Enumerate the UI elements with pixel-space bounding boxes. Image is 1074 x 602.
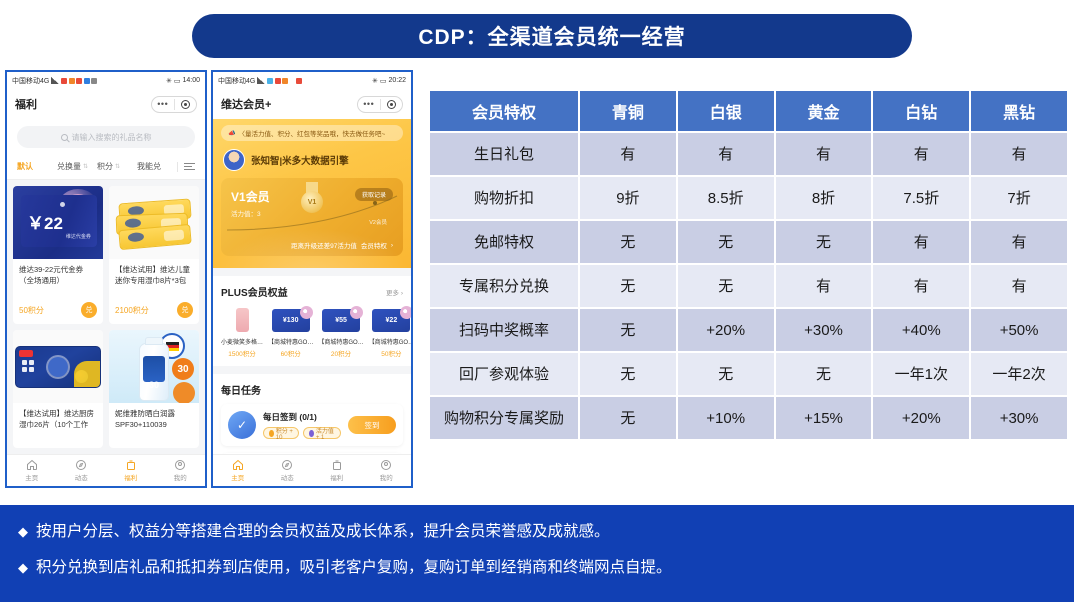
daily-tasks-section: 每日任务 ✓ 每日签到 (0/1) 积分 + 10 活力值 + 1 (213, 374, 411, 454)
user-row[interactable]: 张知智|米多大数据引擎 (223, 149, 401, 171)
plus-item-image: ¥130 (271, 306, 311, 334)
column-header-gold: 黄金 (776, 91, 872, 131)
right-phone-content: 📣 〈量活力值、积分、红包等奖品哦，快去做任务吧~ 张知智|米多大数据引擎 V1… (213, 119, 411, 486)
row-label: 专属积分兑换 (430, 265, 578, 307)
plus-items-grid: 小麦微笑多格… 1500积分 ¥130 【商城特惠GO… 60积分 (221, 306, 403, 358)
sort-arrow-icon: ⇅ (83, 163, 88, 170)
plus-item[interactable]: ¥130 【商城特惠GO… 60积分 (268, 306, 313, 358)
goods-image-wipes (109, 186, 199, 259)
goods-title: 妮维雅防晒白润露SPF30+110039 (115, 408, 193, 430)
goods-image-sunscreen: 30 30 (109, 330, 199, 403)
app-icon-red (275, 78, 281, 84)
coupon-subtitle: 维达代金券 (66, 233, 91, 240)
cell: 有 (971, 221, 1067, 263)
app-icon-red2 (76, 78, 82, 84)
task-item[interactable]: ✓ 每日签到 (0/1) 积分 + 10 活力值 + 1 (221, 404, 403, 446)
close-target-icon[interactable] (175, 100, 197, 109)
phone-screenshots: 中国移动4G ✳ ▭ 14:00 (5, 70, 413, 488)
task-reward-vitality: 活力值 + 1 (303, 427, 341, 439)
nav-title-left: 福利 (15, 96, 37, 112)
membership-privileges-table: 会员特权 青铜 白银 黄金 白钻 黑钻 生日礼包 有 有 有 有 有 (428, 89, 1069, 441)
cell: +50% (971, 309, 1067, 351)
plus-benefits-section: PLUS会员权益 更多 › 小麦微笑多格… 1500积分 (213, 276, 411, 366)
row-label: 免邮特权 (430, 221, 578, 263)
bullet-item: ◆ 积分兑换到店礼品和抵扣券到店使用，吸引老客户复购，复购订单到经销商和终端网点… (18, 558, 1056, 578)
plus-item-points: 60积分 (281, 348, 301, 358)
goods-card[interactable]: ￥22 维达代金券 维达39-22元代金券（全场通用） 50积分 兑 (13, 186, 103, 324)
row-label: 生日礼包 (430, 133, 578, 175)
app-icon-orange (69, 78, 75, 84)
avatar (223, 149, 245, 171)
plus-item-image (222, 306, 262, 334)
summary-band: ◆ 按用户分层、权益分等搭建合理的会员权益及成长体系，提升会员荣誉感及成就感。 … (0, 505, 1074, 602)
tab-label: 动态 (281, 472, 294, 482)
voucher-icon: ¥22 (372, 309, 410, 332)
phone-left: 中国移动4G ✳ ▭ 14:00 (5, 70, 207, 488)
chevron-right-icon: › (391, 242, 393, 249)
home-icon (232, 459, 244, 471)
sort-tab-default[interactable]: 默认 (17, 161, 57, 172)
task-title: 每日签到 (0/1) (263, 411, 341, 423)
tag-label: 积分 + 10 (276, 426, 293, 441)
bullet-text: 积分兑换到店礼品和抵扣券到店使用，吸引老客户复购，复购订单到经销商和终端网点自提… (36, 558, 672, 578)
table-row: 专属积分兑换 无 无 有 有 有 (430, 265, 1067, 307)
redeem-button[interactable]: 兑 (177, 302, 193, 318)
tab-mine[interactable]: 我的 (156, 459, 206, 482)
cell: 7.5折 (873, 177, 969, 219)
bottom-tab-bar-right: 主页 动态 福利 我的 (213, 454, 411, 486)
cell: 无 (580, 353, 676, 395)
spf-badge: 30 (172, 358, 194, 380)
table-row: 免邮特权 无 无 无 有 有 (430, 221, 1067, 263)
plus-item-points: 20积分 (331, 348, 351, 358)
cell: 一年2次 (971, 353, 1067, 395)
cell: 9折 (580, 177, 676, 219)
bottom-tab-bar-left: 主页 动态 福利 我的 (7, 454, 205, 486)
sort-arrow-icon: ⇅ (115, 163, 120, 170)
tab-home[interactable]: 主页 (7, 459, 57, 482)
signal-icon (51, 77, 59, 84)
tab-label: 动态 (75, 472, 88, 482)
status-bar-left: 中国移动4G ✳ ▭ 14:00 (7, 72, 205, 89)
next-level-label: V2会员 (369, 218, 387, 226)
search-area: 请输入搜索的礼品名称 (7, 119, 205, 154)
tag-label: 活力值 + 1 (316, 426, 335, 441)
chevron-right-icon: › (401, 290, 403, 297)
tab-label: 福利 (124, 472, 137, 482)
left-phone-content: 请输入搜索的礼品名称 默认 兑换量 ⇅ 积分 ⇅ (7, 119, 205, 486)
table-row: 购物积分专属奖励 无 +10% +15% +20% +30% (430, 397, 1067, 439)
nav-title-right: 维达会员+ (221, 96, 271, 112)
bluetooth-icon: ✳ (372, 77, 378, 85)
tab-home[interactable]: 主页 (213, 459, 263, 482)
cell: +20% (678, 309, 774, 351)
plus-item-name: 【商城特惠GO… (369, 337, 411, 346)
tab-feed[interactable]: 动态 (57, 459, 107, 482)
goods-title: 【维达试用】维达儿童迷你专用湿巾8片*3包试… (115, 264, 193, 286)
sort-tab-label: 兑换量 (57, 161, 81, 172)
cell: +40% (873, 309, 969, 351)
cell: +10% (678, 397, 774, 439)
sort-tab-points[interactable]: 积分 ⇅ (97, 161, 137, 172)
gift-icon (125, 459, 137, 471)
vip-level-card[interactable]: V1会员 活力值：3 获取记录 V1 V2会员 距离 (221, 178, 403, 256)
tab-label: 我的 (174, 472, 187, 482)
cell: 无 (776, 353, 872, 395)
goods-image-kitchen-wipes (13, 330, 103, 403)
column-header-black-diamond: 黑钻 (971, 91, 1067, 131)
cell: +30% (971, 397, 1067, 439)
app-icon-blue (267, 78, 273, 84)
clock-label: 14:00 (182, 77, 200, 84)
progress-text: 距离升级还差97活力值 (291, 240, 357, 250)
cell: 无 (580, 397, 676, 439)
compass-icon (75, 459, 87, 471)
coupon-amount: ￥22 (27, 209, 63, 234)
plus-item[interactable]: 小麦微笑多格… 1500积分 (221, 306, 263, 358)
battery-icon: ▭ (174, 77, 181, 85)
cell: 无 (580, 221, 676, 263)
close-target-icon[interactable] (381, 100, 403, 109)
cell: 有 (873, 133, 969, 175)
sort-tab-label: 我能兑 (137, 161, 161, 172)
cell: 无 (678, 265, 774, 307)
status-app-icons (267, 78, 302, 84)
more-link[interactable]: 更多 › (386, 287, 403, 297)
diamond-bullet-icon: ◆ (18, 522, 28, 542)
user-icon (174, 459, 186, 471)
column-header-bronze: 青铜 (580, 91, 676, 131)
section-title: 每日任务 (221, 382, 261, 397)
redeem-button[interactable]: 兑 (81, 302, 97, 318)
search-input[interactable]: 请输入搜索的礼品名称 (17, 126, 195, 148)
sort-tab-label: 默认 (17, 161, 33, 172)
privilege-link[interactable]: 会员特权 (361, 240, 387, 250)
voucher-amount: ¥55 (335, 317, 347, 324)
cell: 无 (580, 265, 676, 307)
goods-card[interactable]: 【维达试用】维达儿童迷你专用湿巾8片*3包试… 2100积分 兑 (109, 186, 199, 324)
table-header-row: 会员特权 青铜 白银 黄金 白钻 黑钻 (430, 91, 1067, 131)
table-row: 购物折扣 9折 8.5折 8折 7.5折 7折 (430, 177, 1067, 219)
goods-points: 2100积分 (115, 305, 149, 316)
goods-title: 维达39-22元代金券（全场通用） (19, 264, 97, 286)
promo-badge (173, 382, 195, 403)
cell: +20% (873, 397, 969, 439)
mini-program-capsule-left[interactable]: ••• (151, 96, 197, 113)
more-label: 更多 (386, 290, 399, 297)
calendar-check-icon: ✓ (228, 411, 256, 439)
mini-program-capsule-right[interactable]: ••• (357, 96, 403, 113)
phone-right: 中国移动4G ✳ ▭ 20:22 维达会员+ (211, 70, 413, 488)
cell: 无 (678, 353, 774, 395)
compass-icon (281, 459, 293, 471)
dot-decoration (60, 202, 65, 207)
table-body: 生日礼包 有 有 有 有 有 购物折扣 9折 8.5折 8折 7.5折 7折 免… (430, 133, 1067, 439)
slide-root: CDP：全渠道会员统一经营 中国移动4G (0, 0, 1074, 602)
plus-item-name: 【商城特惠GO… (268, 337, 313, 346)
search-icon (61, 134, 68, 141)
search-placeholder: 请输入搜索的礼品名称 (72, 132, 152, 143)
bullet-item: ◆ 按用户分层、权益分等搭建合理的会员权益及成长体系，提升会员荣誉感及成就感。 (18, 522, 1056, 542)
table-row: 扫码中奖概率 无 +20% +30% +40% +50% (430, 309, 1067, 351)
table-row: 回厂参观体验 无 无 无 一年1次 一年2次 (430, 353, 1067, 395)
plus-item-image: ¥22 (371, 306, 411, 334)
cell: 有 (776, 133, 872, 175)
cell: 7折 (971, 177, 1067, 219)
cell: 有 (873, 265, 969, 307)
row-label: 回厂参观体验 (430, 353, 578, 395)
tab-welfare[interactable]: 福利 (312, 459, 362, 482)
home-icon (26, 459, 38, 471)
more-icon[interactable]: ••• (358, 101, 380, 107)
cell: 有 (971, 133, 1067, 175)
slide-title-bar: CDP：全渠道会员统一经营 (192, 14, 912, 58)
status-bar-right: 中国移动4G ✳ ▭ 20:22 (213, 72, 411, 89)
tab-feed[interactable]: 动态 (263, 459, 313, 482)
divider (177, 162, 178, 172)
user-icon (380, 459, 392, 471)
voucher-amount: ¥22 (386, 317, 398, 324)
cell: 无 (678, 221, 774, 263)
table-row: 生日礼包 有 有 有 有 有 (430, 133, 1067, 175)
sort-tab-bar: 默认 兑换量 ⇅ 积分 ⇅ 我能兑 (7, 154, 205, 180)
page-title: CDP：全渠道会员统一经营 (418, 21, 685, 51)
column-header-white-diamond: 白钻 (873, 91, 969, 131)
goods-image-coupon: ￥22 维达代金券 (13, 186, 103, 259)
app-icon-orange (282, 78, 288, 84)
tab-welfare[interactable]: 福利 (106, 459, 156, 482)
cell: 有 (776, 265, 872, 307)
cell: +15% (776, 397, 872, 439)
goods-grid: ￥22 维达代金券 维达39-22元代金券（全场通用） 50积分 兑 (7, 180, 205, 454)
goods-title: 【维达试用】维达厨房湿巾26片（10个工作日… (19, 408, 97, 430)
bottle-illustration: 30 (139, 343, 169, 401)
app-icon-blue (84, 78, 90, 84)
cell: 8.5折 (678, 177, 774, 219)
app-icon-red (61, 78, 67, 84)
plus-item-points: 1500积分 (228, 348, 255, 358)
carrier-label: 中国移动4G (12, 76, 49, 86)
sort-tab-redeemable[interactable]: 我能兑 (137, 161, 177, 172)
voucher-amount: ¥130 (283, 317, 299, 324)
can-icon (236, 308, 249, 332)
plus-item[interactable]: ¥22 【商城特惠GO… 50积分 (369, 306, 411, 358)
row-label: 购物折扣 (430, 177, 578, 219)
goods-card[interactable]: 30 30 妮维雅防晒白润露SPF30+110039 (109, 330, 199, 448)
cell: 有 (580, 133, 676, 175)
signal-icon (257, 77, 265, 84)
cell: 8折 (776, 177, 872, 219)
tab-label: 福利 (330, 472, 343, 482)
list-view-icon[interactable] (184, 163, 195, 171)
app-icon-grey (91, 78, 97, 84)
more-icon[interactable]: ••• (152, 101, 174, 107)
notice-text: 〈量活力值、积分、红包等奖品哦，快去做任务吧~ (238, 128, 385, 138)
gift-icon (331, 459, 343, 471)
plus-item-name: 小麦微笑多格… (221, 337, 263, 346)
progress-curve (227, 194, 403, 236)
column-header-privilege: 会员特权 (430, 91, 578, 131)
battery-icon: ▭ (380, 77, 387, 85)
user-name: 张知智|米多大数据引擎 (251, 153, 349, 167)
cell: 有 (971, 265, 1067, 307)
voucher-icon: ¥130 (272, 309, 310, 332)
plus-item-points: 50积分 (381, 348, 401, 358)
goods-points: 50积分 (19, 305, 44, 316)
member-hero: 📣 〈量活力值、积分、红包等奖品哦，快去做任务吧~ 张知智|米多大数据引擎 V1… (213, 119, 411, 268)
nav-bar-left: 福利 ••• (7, 89, 205, 119)
cell: 有 (873, 221, 969, 263)
plus-item-image: ¥55 (321, 306, 361, 334)
app-icon-red2 (296, 78, 302, 84)
tab-mine[interactable]: 我的 (362, 459, 412, 482)
tab-label: 主页 (231, 472, 244, 482)
carrier-label: 中国移动4G (218, 76, 255, 86)
cell: 无 (580, 309, 676, 351)
cell: 无 (776, 221, 872, 263)
cell: 一年1次 (873, 353, 969, 395)
section-title: PLUS会员权益 (221, 284, 288, 299)
column-header-silver: 白银 (678, 91, 774, 131)
sign-in-button[interactable]: 签到 (348, 416, 396, 434)
task-reward-points: 积分 + 10 (263, 427, 299, 439)
row-label: 购物积分专属奖励 (430, 397, 578, 439)
bluetooth-icon: ✳ (166, 77, 172, 85)
row-label: 扫码中奖概率 (430, 309, 578, 351)
sort-tab-exchange-count[interactable]: 兑换量 ⇅ (57, 161, 97, 172)
status-app-icons (61, 78, 97, 84)
megaphone-icon: 📣 (228, 130, 235, 137)
diamond-bullet-icon: ◆ (18, 558, 28, 578)
tab-label: 我的 (380, 472, 393, 482)
voucher-icon: ¥55 (322, 309, 360, 332)
plus-item-name: 【商城特惠GO… (318, 337, 363, 346)
tab-label: 主页 (25, 472, 38, 482)
clock-label: 20:22 (388, 77, 406, 84)
cell: 有 (678, 133, 774, 175)
cell: +30% (776, 309, 872, 351)
goods-card[interactable]: 【维达试用】维达厨房湿巾26片（10个工作日… (13, 330, 103, 448)
nav-bar-right: 维达会员+ ••• (213, 89, 411, 119)
bullet-text: 按用户分层、权益分等搭建合理的会员权益及成长体系，提升会员荣誉感及成就感。 (36, 522, 610, 542)
sort-tab-label: 积分 (97, 161, 113, 172)
plus-item[interactable]: ¥55 【商城特惠GO… 20积分 (318, 306, 363, 358)
notice-banner[interactable]: 📣 〈量活力值、积分、红包等奖品哦，快去做任务吧~ (221, 125, 403, 141)
